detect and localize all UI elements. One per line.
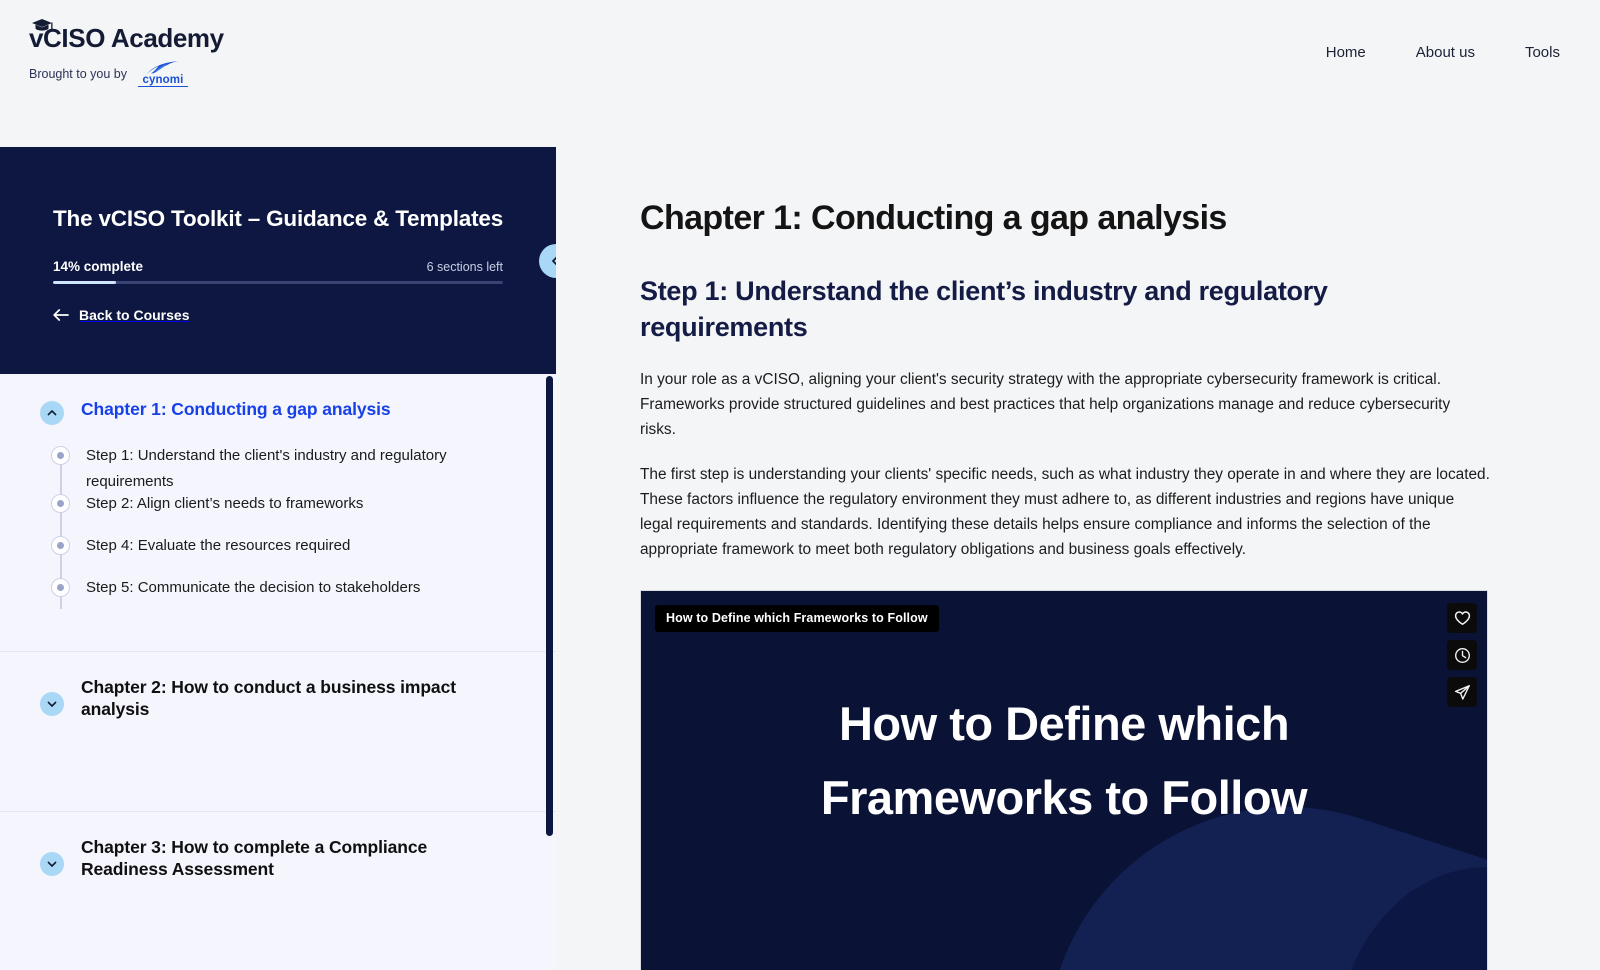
share-icon [1454, 684, 1471, 701]
chapter-block-3: Chapter 3: How to complete a Compliance … [0, 812, 556, 970]
video-player[interactable]: How to Define which Frameworks to Follow… [640, 590, 1488, 970]
brand-logo[interactable]: vCISO Academy Brought to you by cynomi [29, 22, 289, 87]
watch-later-button[interactable] [1447, 640, 1477, 670]
brand-subtitle-row: Brought to you by cynomi [29, 61, 289, 87]
chapter-title-3: Chapter 3: How to complete a Compliance … [81, 836, 511, 880]
like-button[interactable] [1447, 603, 1477, 633]
chapter-title-2: Chapter 2: How to conduct a business imp… [81, 676, 511, 720]
video-overlay-line-2: Frameworks to Follow [641, 761, 1487, 835]
chapter-toggle-3[interactable]: Chapter 3: How to complete a Compliance … [40, 836, 526, 880]
main-nav: Home About us Tools [1326, 44, 1560, 61]
share-button[interactable] [1447, 677, 1477, 707]
sidebar-collapse-button[interactable] [539, 244, 556, 278]
sidebar-scrollbar[interactable] [546, 376, 553, 970]
progress-label: 14% complete [53, 259, 143, 274]
video-overlay-line-1: How to Define which [641, 687, 1487, 761]
lesson-content: Chapter 1: Conducting a gap analysis Ste… [556, 147, 1600, 970]
clock-icon [1454, 647, 1471, 664]
nav-link-about-us[interactable]: About us [1416, 44, 1475, 61]
step-status-dot [51, 446, 70, 465]
chevron-down-icon [40, 852, 64, 876]
cynomi-logo: cynomi [135, 61, 191, 87]
cynomi-underline [138, 86, 188, 88]
back-to-courses-link[interactable]: Back to Courses [53, 307, 189, 323]
brand-subtitle: Brought to you by [29, 67, 127, 81]
heart-icon [1454, 610, 1471, 626]
chapter-toggle-1[interactable]: Chapter 1: Conducting a gap analysis [40, 398, 526, 425]
chapter-toggle-2[interactable]: Chapter 2: How to conduct a business imp… [40, 676, 526, 720]
video-overlay-heading: How to Define which Frameworks to Follow [641, 687, 1487, 835]
step-label: Step 2: Align client’s needs to framewor… [86, 491, 363, 517]
course-title: The vCISO Toolkit – Guidance & Templates [53, 205, 503, 233]
sections-left-label: 6 sections left [427, 260, 503, 274]
body-paragraph-1: In your role as a vCISO, aligning your c… [640, 367, 1490, 442]
course-sidebar: The vCISO Toolkit – Guidance & Templates… [0, 147, 556, 970]
progress-row: 14% complete 6 sections left [53, 259, 503, 274]
site-header: vCISO Academy Brought to you by cynomi H… [0, 0, 1600, 113]
chevron-left-icon [549, 254, 556, 268]
chapter-list[interactable]: Chapter 1: Conducting a gap analysis Ste… [0, 374, 556, 970]
nav-link-tools[interactable]: Tools [1525, 44, 1560, 61]
step-item[interactable]: Step 5: Communicate the decision to stak… [51, 579, 526, 621]
arrow-left-icon [53, 309, 69, 321]
step-item[interactable]: Step 1: Understand the client's industry… [51, 447, 526, 495]
chapter-block-2: Chapter 2: How to conduct a business imp… [0, 652, 556, 812]
chapter-block-1: Chapter 1: Conducting a gap analysis Ste… [0, 374, 556, 652]
cynomi-wordmark: cynomi [135, 74, 191, 86]
brand-title-row: vCISO Academy [29, 22, 289, 54]
step-status-dot [51, 536, 70, 555]
back-to-courses-label: Back to Courses [79, 307, 189, 323]
step-label: Step 1: Understand the client's industry… [86, 443, 481, 495]
step-label: Step 4: Evaluate the resources required [86, 533, 350, 559]
chapter-title-1: Chapter 1: Conducting a gap analysis [81, 398, 391, 420]
step-label: Step 5: Communicate the decision to stak… [86, 575, 420, 601]
body-paragraph-2: The first step is understanding your cli… [640, 462, 1490, 562]
progress-bar [53, 281, 503, 284]
nav-link-home[interactable]: Home [1326, 44, 1366, 61]
sidebar-header: The vCISO Toolkit – Guidance & Templates… [0, 147, 556, 374]
step-item[interactable]: Step 2: Align client’s needs to framewor… [51, 495, 526, 537]
video-title-badge[interactable]: How to Define which Frameworks to Follow [655, 605, 939, 632]
step-item[interactable]: Step 4: Evaluate the resources required [51, 537, 526, 579]
step-list-1: Step 1: Understand the client's industry… [51, 447, 526, 621]
chevron-up-icon [40, 401, 64, 425]
page-title: Chapter 1: Conducting a gap analysis [640, 197, 1516, 239]
sidebar-scrollbar-thumb[interactable] [546, 376, 553, 836]
step-heading: Step 1: Understand the client’s industry… [640, 273, 1430, 345]
step-status-dot [51, 578, 70, 597]
chevron-down-icon [40, 692, 64, 716]
cynomi-bird-icon [147, 61, 179, 74]
video-action-bar [1447, 603, 1477, 707]
step-status-dot [51, 494, 70, 513]
brand-title: vCISO Academy [29, 22, 289, 54]
progress-bar-fill [53, 281, 116, 284]
